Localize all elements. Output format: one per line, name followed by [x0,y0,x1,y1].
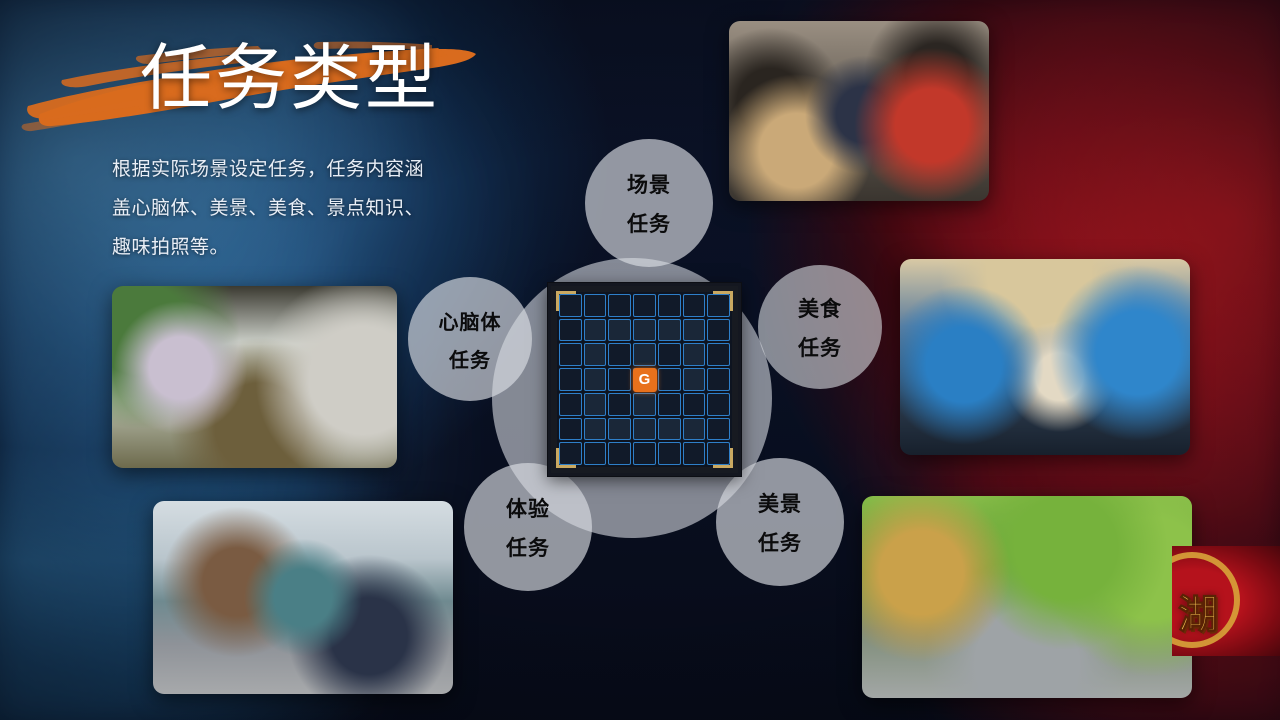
board-cell[interactable] [584,442,607,465]
node-mind-body-task[interactable]: 心脑体 任务 [408,277,532,401]
board-cell[interactable] [658,319,681,342]
board-cell[interactable] [658,393,681,416]
node-mind-line2: 任务 [449,344,491,373]
board-cell[interactable] [584,294,607,317]
node-scene-line1: 场景 [627,169,671,199]
board-cell[interactable] [683,393,706,416]
board-corner-top-left-icon [556,291,576,311]
board-cell[interactable] [683,442,706,465]
board-cell[interactable] [633,319,656,342]
board-cell[interactable] [707,368,730,391]
photo-park-activity [862,496,1192,698]
photo-paper-planes [153,501,453,694]
board-cell[interactable] [683,294,706,317]
node-view-task[interactable]: 美景 任务 [716,458,844,586]
board-cell[interactable] [683,418,706,441]
photo-herb-wall [112,286,397,468]
board-corner-top-right-icon [713,291,733,311]
board-cell[interactable] [633,418,656,441]
board-cell[interactable] [707,319,730,342]
board-cell[interactable] [633,343,656,366]
board-cell[interactable] [608,294,631,317]
body-paragraph: 根据实际场景设定任务，任务内容涵盖心脑体、美景、美食、景点知识、趣味拍照等。 [112,150,442,267]
node-food-line1: 美食 [798,293,842,323]
board-cell[interactable] [608,418,631,441]
board-cell[interactable] [683,319,706,342]
photo-team-phones [729,21,989,201]
board-cell[interactable] [584,343,607,366]
board-cell[interactable] [608,343,631,366]
board-cell[interactable] [584,393,607,416]
board-corner-bottom-right-icon [713,448,733,468]
board-cell[interactable] [658,294,681,317]
board-cell[interactable] [633,393,656,416]
board-cell[interactable] [707,393,730,416]
board-cell[interactable] [658,343,681,366]
board-cell[interactable] [559,343,582,366]
board-cell[interactable] [707,418,730,441]
board-cell[interactable] [633,442,656,465]
board-cell[interactable] [584,418,607,441]
board-center-tile[interactable]: G [633,368,657,392]
node-food-task[interactable]: 美食 任务 [758,265,882,389]
node-view-line2: 任务 [758,527,802,557]
board-cell[interactable] [608,442,631,465]
node-exp-line2: 任务 [506,532,550,562]
board-cell[interactable] [559,319,582,342]
node-food-line2: 任务 [798,332,842,362]
board-cell[interactable] [559,418,582,441]
board-cell[interactable] [559,368,582,391]
game-board[interactable]: G [548,283,741,476]
board-cell[interactable] [584,368,607,391]
node-mind-line1: 心脑体 [439,306,502,335]
node-scene-task[interactable]: 场景 任务 [585,139,713,267]
board-cell[interactable] [608,319,631,342]
board-cell[interactable] [658,368,681,391]
corner-badge: 湖 [1172,546,1280,656]
board-cell[interactable] [608,393,631,416]
page-title: 任务类型 [140,42,440,114]
board-corner-bottom-left-icon [556,448,576,468]
board-cell[interactable] [683,343,706,366]
node-view-line1: 美景 [758,488,802,518]
board-cell[interactable] [633,294,656,317]
board-cell[interactable] [584,319,607,342]
node-experience-task[interactable]: 体验 任务 [464,463,592,591]
board-cell[interactable] [559,393,582,416]
board-cell[interactable] [707,343,730,366]
badge-label: 湖 [1178,582,1219,640]
slide-root: 任务类型 根据实际场景设定任务，任务内容涵盖心脑体、美景、美食、景点知识、趣味拍… [0,0,1280,720]
board-cell[interactable] [608,368,631,391]
board-cell[interactable] [683,368,706,391]
node-scene-line2: 任务 [627,208,671,238]
node-exp-line1: 体验 [506,493,550,523]
photo-food-stall [900,259,1190,455]
board-cell[interactable] [658,442,681,465]
board-cell[interactable] [658,418,681,441]
